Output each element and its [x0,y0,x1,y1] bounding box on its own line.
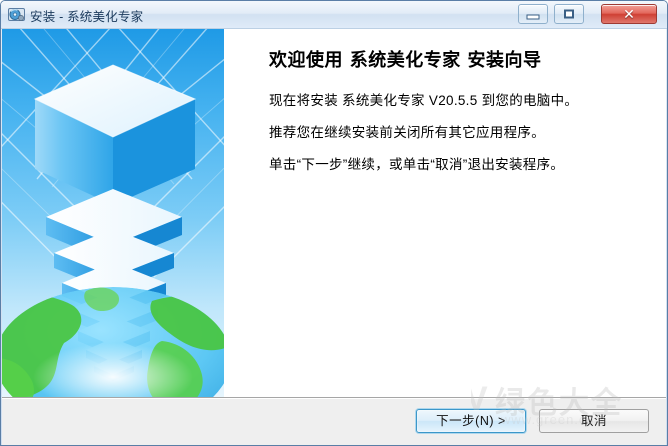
install-info-line-2: 推荐您在继续安装前关闭所有其它应用程序。 [269,121,545,141]
blue-tower-globe-artwork [2,29,224,397]
cancel-button[interactable]: 取消 [539,409,649,433]
window-title: 安装 - 系统美化专家 [30,6,143,25]
welcome-sidebar-graphic [2,29,224,397]
maximize-button[interactable] [554,4,584,24]
close-button[interactable]: ✕ [601,4,657,24]
next-button[interactable]: 下一步(N) > [416,409,526,433]
maximize-icon [564,10,574,19]
welcome-content-panel: 欢迎使用 系统美化专家 安装向导 现在将安装 系统美化专家 V20.5.5 到您… [224,29,666,397]
client-area: 欢迎使用 系统美化专家 安装向导 现在将安装 系统美化专家 V20.5.5 到您… [2,29,666,397]
minimize-icon [527,15,540,20]
install-info-line-3: 单击“下一步”继续，或单击“取消”退出安装程序。 [269,153,564,173]
close-icon: ✕ [602,5,656,23]
title-bar: 安装 - 系统美化专家 ✕ [1,1,667,29]
installer-window: 安装 - 系统美化专家 ✕ [0,0,668,446]
setup-disc-icon [8,6,25,23]
page-title: 欢迎使用 系统美化专家 安装向导 [269,46,542,72]
install-info-line-1: 现在将安装 系统美化专家 V20.5.5 到您的电脑中。 [269,89,578,109]
dialog-footer: 下一步(N) > 取消 [2,397,666,446]
minimize-button[interactable] [518,4,548,24]
